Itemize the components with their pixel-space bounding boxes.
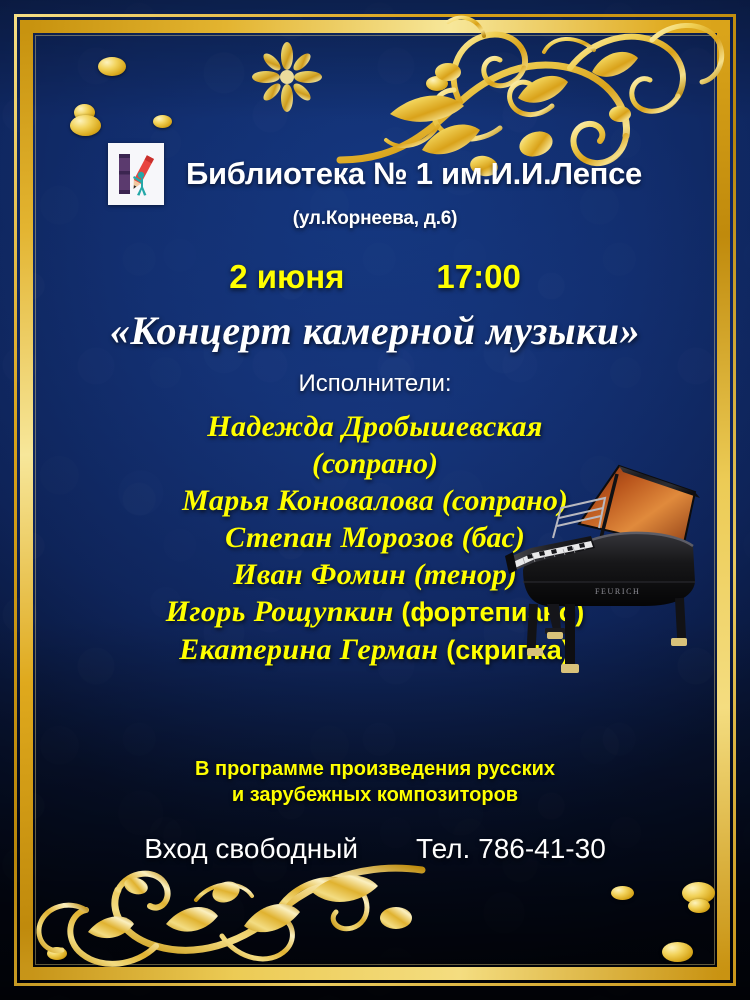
library-address: (ул.Корнеева, д.6) — [0, 208, 750, 230]
performer-row: Надежда Дробышевская — [0, 408, 750, 445]
event-time: 17:00 — [436, 258, 520, 296]
admission-info: Вход свободный — [144, 833, 358, 865]
performer-name: Игорь Рощупкин — [166, 595, 394, 628]
performers-label: Исполнители: — [0, 370, 750, 398]
library-logo — [108, 143, 164, 205]
programme-line-1: В программе произведения русских — [0, 756, 750, 782]
library-name: Библиотека № 1 им.И.И.Лепсе — [186, 156, 642, 192]
event-date: 2 июня — [229, 258, 344, 296]
poster-header: Библиотека № 1 им.И.И.Лепсе — [0, 143, 750, 205]
programme-line-2: и зарубежных композиторов — [0, 782, 750, 808]
poster-footer: Вход свободный Тел. 786-41-30 — [0, 833, 750, 865]
performer-name: Марья Коновалова — [182, 484, 434, 517]
book-and-pencil-icon — [115, 149, 157, 199]
contact-phone[interactable]: Тел. 786-41-30 — [416, 833, 606, 865]
performer-name: Надежда Дробышевская — [207, 410, 543, 443]
performer-role: (сопрано) — [312, 447, 438, 480]
performer-name: Степан Морозов — [225, 521, 454, 554]
performer-name: Иван Фомин — [233, 558, 406, 591]
concert-poster: Библиотека № 1 им.И.И.Лепсе (ул.Корнеева… — [0, 0, 750, 1000]
event-title: «Концерт камерной музыки» — [0, 307, 750, 354]
programme-note: В программе произведения русских и заруб… — [0, 756, 750, 808]
event-datetime: 2 июня 17:00 — [0, 258, 750, 296]
piano-brand-text: FEURICH — [595, 587, 640, 596]
grand-piano-illustration: FEURICH — [487, 452, 712, 674]
performer-name: Екатерина Герман — [179, 633, 438, 666]
